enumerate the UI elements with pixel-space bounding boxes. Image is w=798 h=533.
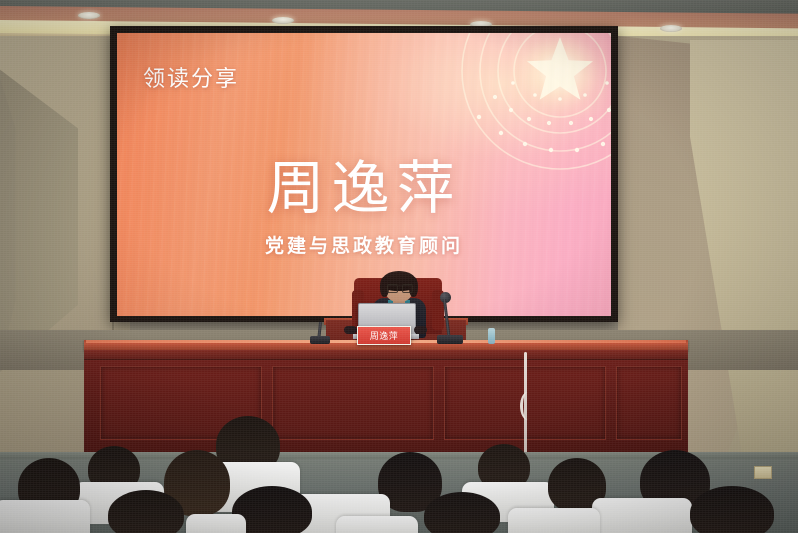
desk-panel bbox=[272, 366, 434, 440]
slide-speaker-name: 周逸萍 bbox=[117, 141, 611, 225]
chair-cover bbox=[508, 508, 600, 533]
desk-panel bbox=[616, 366, 682, 440]
speaker-hand-left bbox=[344, 326, 357, 334]
chair-cover bbox=[186, 514, 246, 533]
desk-rail bbox=[84, 350, 688, 360]
downlight-icon bbox=[78, 12, 100, 19]
chair-cover bbox=[0, 500, 90, 533]
microphone-base-secondary bbox=[310, 336, 330, 344]
slide-kicker-text: 领读分享 bbox=[143, 61, 239, 93]
audience-head bbox=[690, 486, 774, 533]
water-bottle-icon bbox=[488, 328, 495, 344]
chair-cover bbox=[336, 516, 418, 533]
floor-nameplate-card bbox=[754, 466, 772, 479]
audience-head bbox=[424, 492, 500, 533]
chair-cover bbox=[592, 498, 692, 533]
audience-head bbox=[108, 490, 184, 533]
downlight-icon bbox=[272, 17, 294, 24]
glasses-bridge-icon bbox=[387, 285, 411, 292]
hanging-cable-kink bbox=[520, 392, 535, 420]
desk-nameplate-text: 周逸萍 bbox=[370, 329, 399, 342]
speaker-hand-right bbox=[414, 326, 427, 334]
desk-nameplate: 周逸萍 bbox=[357, 326, 411, 345]
microphone-base bbox=[437, 335, 463, 344]
downlight-icon bbox=[660, 25, 682, 32]
lecture-hall-photo: 领读分享 周逸萍 党建与思政教育顾问 周逸萍 bbox=[0, 0, 798, 533]
slide-speaker-title: 党建与思政教育顾问 bbox=[117, 231, 611, 258]
